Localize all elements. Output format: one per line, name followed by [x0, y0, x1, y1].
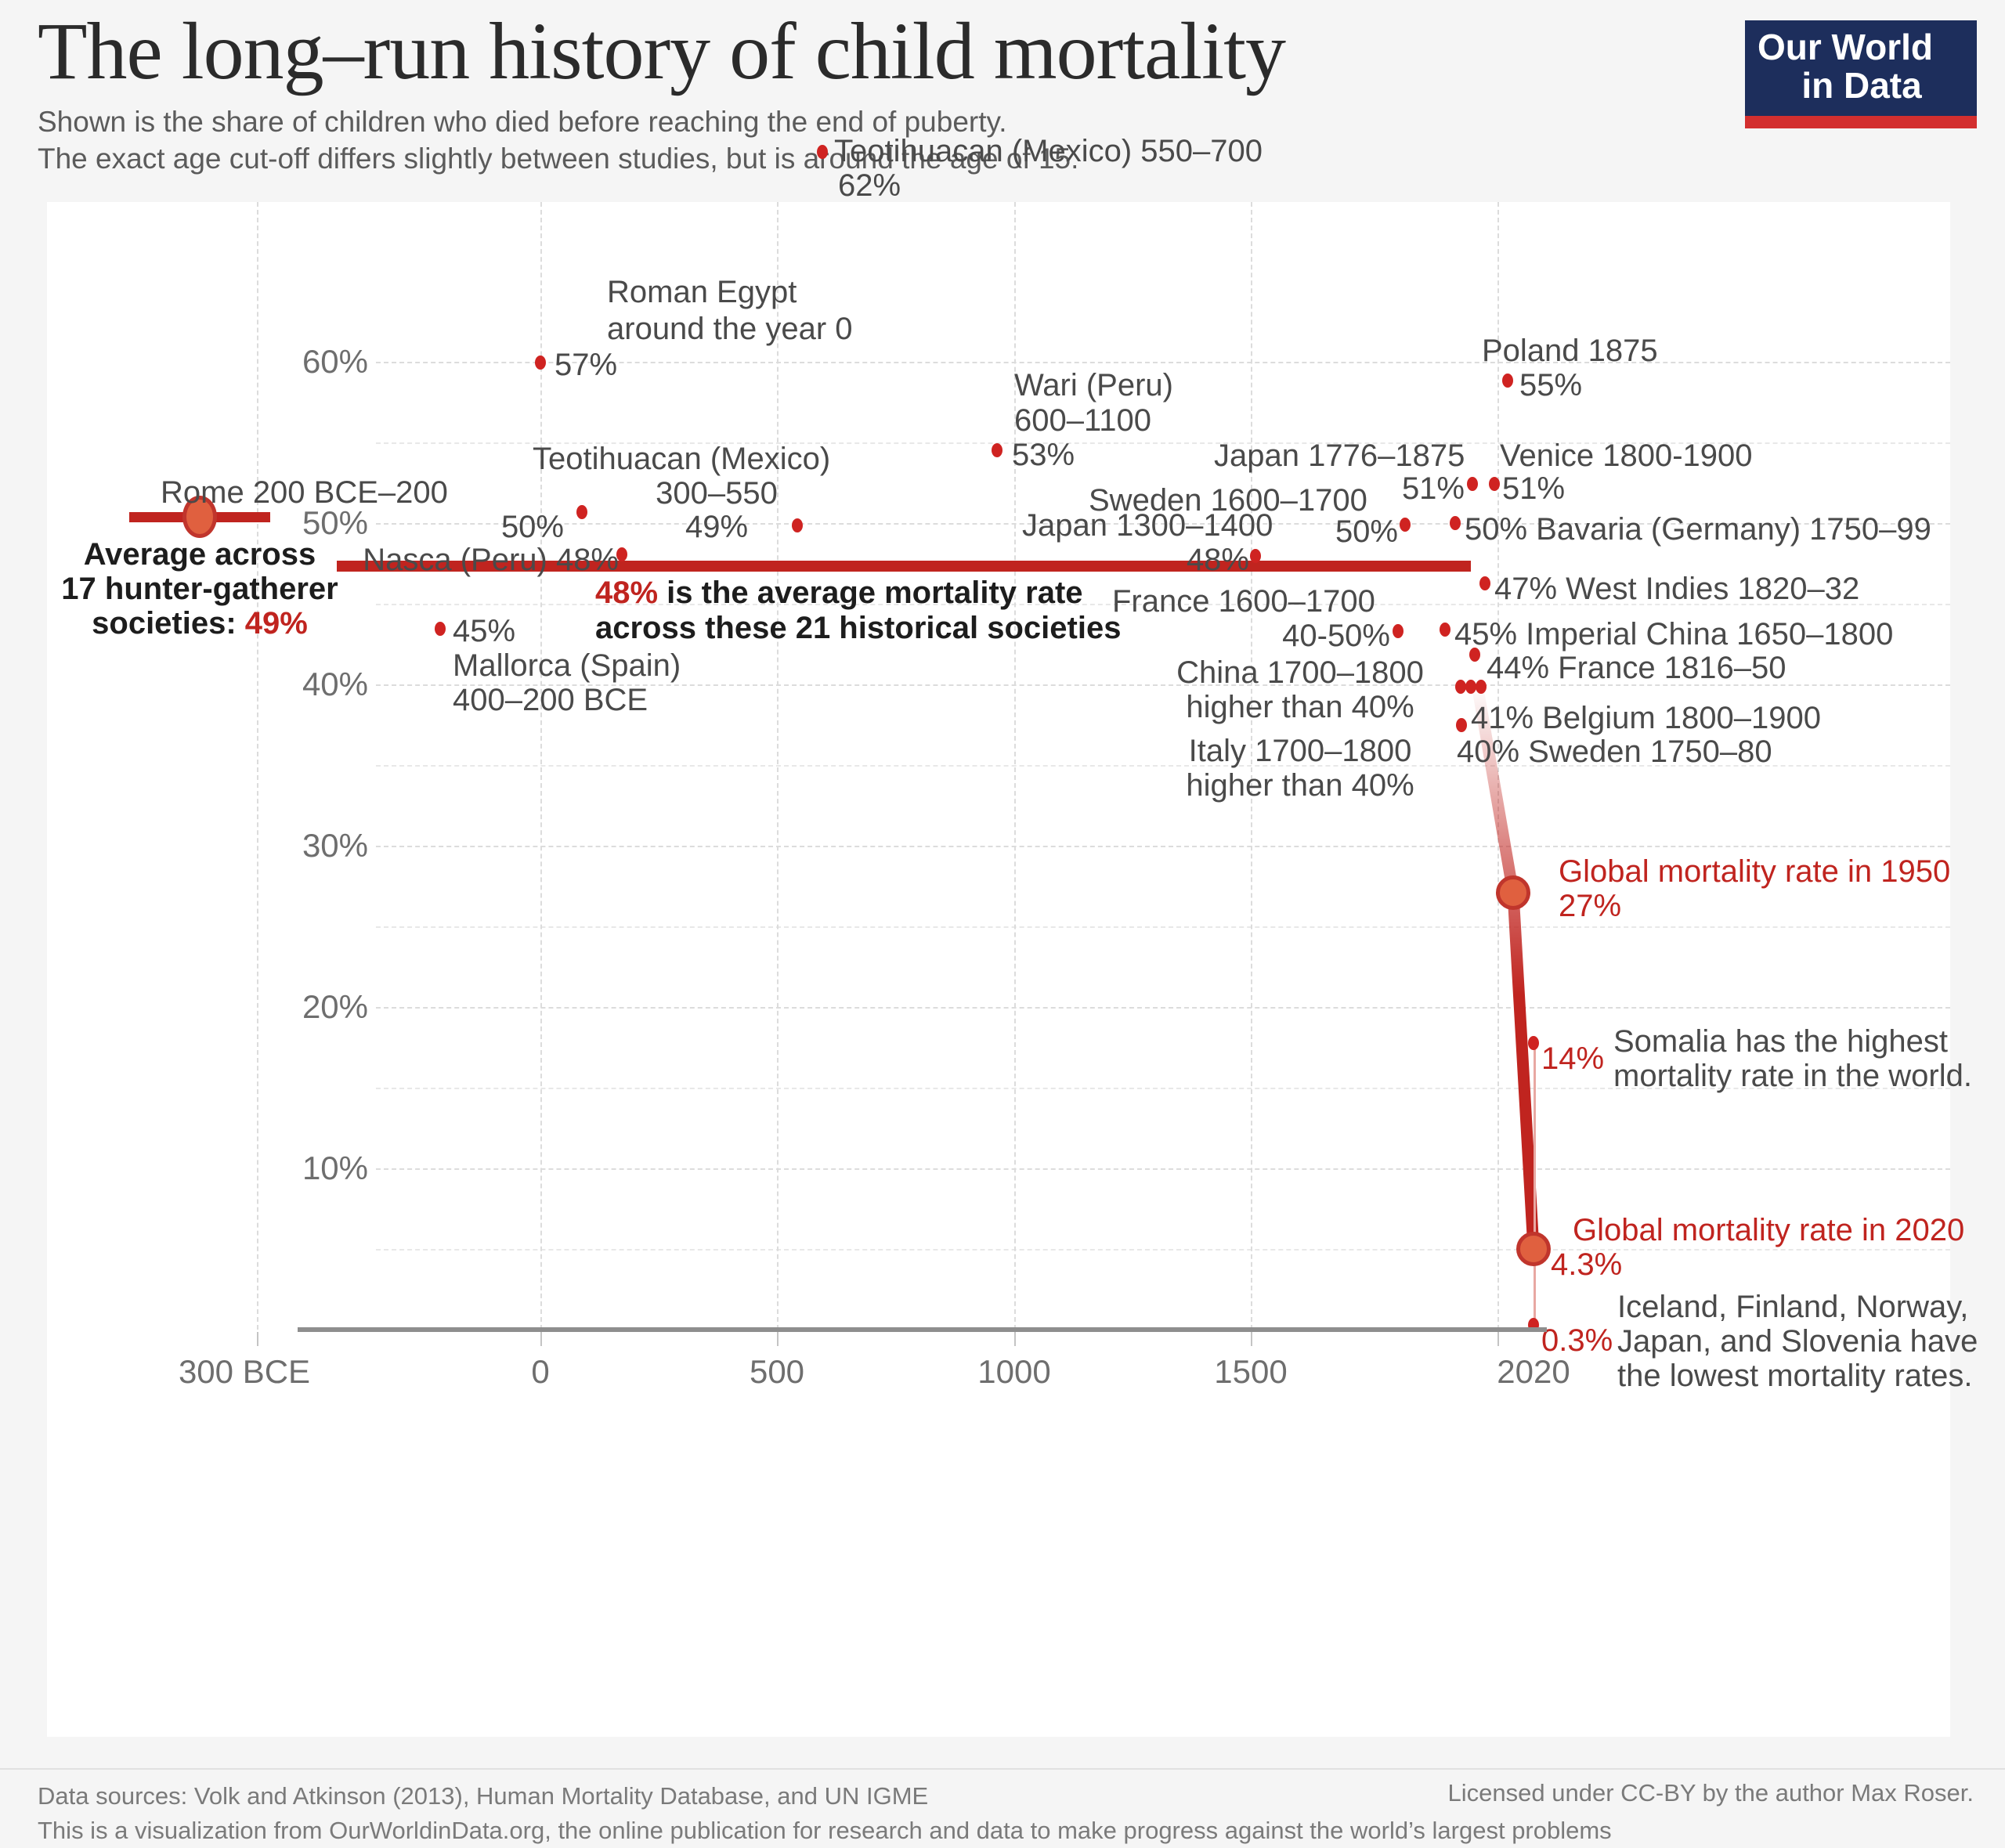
label-roman-egypt-line1: Roman Egypt — [607, 274, 797, 310]
x-tick-mark-500 — [777, 1332, 779, 1346]
dot-teotihuacan-550[interactable] — [817, 145, 828, 159]
label-teotihuacan-300-line2: 300–550 — [595, 475, 838, 511]
owid-logo[interactable]: Our World in Data — [1745, 20, 1977, 128]
average-caption-line1: 48% is the average mortality rate — [595, 575, 1083, 611]
logo-box: Our World in Data — [1745, 20, 1977, 116]
dot-teotihuacan-300[interactable] — [792, 518, 803, 532]
callout-lowest-line3: the lowest mortality rates. — [1617, 1358, 1973, 1394]
label-france-1600: France 1600–1700 — [1112, 583, 1375, 619]
label-imperial-china: 45% Imperial China 1650–1800 — [1454, 616, 1893, 652]
footer-license: Licensed under CC-BY by the author Max R… — [1448, 1779, 1974, 1807]
hunter-gatherer-caption-line2: 17 hunter-gatherer — [47, 571, 352, 607]
callout-global-2020-line1: Global mortality rate in 2020 — [1573, 1212, 1964, 1248]
label-sweden-1750: 40% Sweden 1750–80 — [1457, 734, 1772, 770]
callout-somalia-value: 14% — [1541, 1041, 1604, 1077]
label-west-indies: 47% West Indies 1820–32 — [1494, 571, 1859, 607]
dot-global-1950[interactable] — [1496, 875, 1530, 910]
dot-roman-egypt[interactable] — [535, 356, 546, 370]
global-trend-line — [47, 202, 1950, 1737]
x-tick-300bce: 300 BCE — [179, 1353, 310, 1391]
logo-red-bar — [1745, 116, 1977, 128]
page-title: The long–run history of child mortality — [38, 11, 1761, 92]
logo-line-1: Our World — [1758, 28, 1966, 67]
dot-venice-1800[interactable] — [1489, 477, 1500, 491]
x-axis-line — [298, 1327, 1547, 1332]
dot-bavaria-1750[interactable] — [1450, 516, 1461, 530]
x-tick-2020: 2020 — [1497, 1353, 1570, 1391]
x-tick-mark-0 — [540, 1332, 542, 1346]
callout-global-2020-line2: 4.3% — [1551, 1247, 1622, 1283]
label-teotihuacan-300-value: 49% — [666, 509, 768, 545]
dot-somalia-14[interactable] — [1528, 1036, 1539, 1050]
label-mallorca-line1: Mallorca (Spain) — [453, 648, 681, 684]
dot-italy-1700[interactable] — [1465, 680, 1476, 694]
label-china-1700-line2: higher than 40% — [1143, 689, 1457, 725]
label-france-1600-value: 40-50% — [1214, 618, 1390, 654]
dot-wari-peru[interactable] — [992, 443, 1002, 457]
footer-sources: Data sources: Volk and Atkinson (2013), … — [38, 1779, 1612, 1814]
range-line-somalia — [1534, 1043, 1536, 1254]
label-roman-egypt-value: 57% — [555, 347, 617, 383]
label-teotihuacan-550: Teotihuacan (Mexico) 550–700 — [834, 133, 1263, 169]
logo-line-2: in Data — [1758, 67, 1966, 105]
label-belgium-1800: 41% Belgium 1800–1900 — [1471, 700, 1821, 736]
label-bavaria-1750: 50% Bavaria (Germany) 1750–99 — [1465, 511, 1931, 547]
label-japan-1776-value: 51% — [1363, 471, 1465, 507]
label-venice-1800: Venice 1800-1900 — [1500, 438, 1753, 474]
footer-divider — [0, 1768, 2005, 1770]
label-teotihuacan-550-value: 62% — [838, 168, 901, 204]
label-wari-line1: Wari (Peru) — [1014, 367, 1173, 403]
footer-note: This is a visualization from OurWorldinD… — [38, 1814, 1612, 1848]
x-tick-mark-2020 — [1497, 1332, 1499, 1346]
x-tick-0: 0 — [531, 1353, 549, 1391]
dot-sweden-1600[interactable] — [1400, 518, 1411, 532]
label-japan-1776: Japan 1776–1875 — [1214, 438, 1465, 474]
label-roman-egypt-line2: around the year 0 — [607, 311, 853, 347]
chart-plot-area: 60% 50% 40% 30% 20% 10% — [47, 202, 1950, 1737]
callout-global-1950-line1: Global mortality rate in 1950 — [1559, 854, 1950, 890]
callout-lowest-line2: Japan, and Slovenia have — [1617, 1323, 1978, 1359]
x-tick-1500: 1500 — [1214, 1353, 1287, 1391]
hunter-gatherer-caption-line1: Average across — [47, 536, 352, 572]
label-wari-line2: 600–1100 — [1014, 402, 1151, 439]
label-japan-1300: Japan 1300–1400 — [1022, 507, 1273, 543]
callout-lowest-line1: Iceland, Finland, Norway, — [1617, 1289, 1968, 1325]
callout-somalia-line2: mortality rate in the world. — [1613, 1058, 1972, 1094]
dot-rome-200bce[interactable] — [576, 505, 587, 519]
label-france-1816: 44% France 1816–50 — [1487, 650, 1786, 686]
average-caption-value: 48% — [595, 576, 658, 610]
label-italy-1700-line1: Italy 1700–1800 — [1143, 733, 1457, 769]
callout-somalia-line1: Somalia has the highest — [1613, 1023, 1948, 1059]
label-rome-200bce: Rome 200 BCE–200 — [161, 475, 448, 511]
dot-china-1700[interactable] — [1455, 680, 1466, 694]
dot-france-1600[interactable] — [1393, 624, 1403, 638]
average-caption-rest: is the average mortality rate — [658, 576, 1082, 610]
dot-belgium-1800[interactable] — [1456, 718, 1467, 732]
hg-prefix: societies: — [92, 606, 245, 641]
label-poland-1875: Poland 1875 — [1482, 333, 1658, 369]
dot-poland-1875[interactable] — [1502, 374, 1513, 388]
hunter-gatherer-caption-line3: societies: 49% — [47, 605, 352, 641]
x-tick-1000: 1000 — [977, 1353, 1050, 1391]
average-caption-line2: across these 21 historical societies — [595, 610, 1121, 646]
dot-sweden-1750[interactable] — [1476, 680, 1487, 694]
hg-value: 49% — [245, 606, 308, 641]
label-venice-value: 51% — [1502, 471, 1565, 507]
label-poland-value: 55% — [1519, 367, 1582, 403]
x-tick-mark-1500 — [1251, 1332, 1252, 1346]
dot-japan-1776[interactable] — [1467, 477, 1478, 491]
dot-west-indies[interactable] — [1479, 576, 1490, 590]
dot-global-2020[interactable] — [1516, 1232, 1551, 1266]
x-tick-500: 500 — [750, 1353, 804, 1391]
x-tick-mark-300bce — [257, 1332, 258, 1346]
label-china-1700-line1: China 1700–1800 — [1143, 655, 1457, 691]
label-italy-1700-line2: higher than 40% — [1143, 767, 1457, 803]
dot-imperial-china[interactable] — [1440, 623, 1450, 637]
dot-mallorca-spain[interactable] — [435, 622, 446, 636]
label-rome-value: 50% — [423, 509, 564, 545]
label-mallorca-line2: 400–200 BCE — [453, 682, 648, 718]
label-wari-value: 53% — [1012, 437, 1075, 473]
callout-global-1950-line2: 27% — [1559, 888, 1621, 924]
x-tick-mark-1000 — [1014, 1332, 1016, 1346]
label-teotihuacan-300-line1: Teotihuacan (Mexico) — [533, 441, 830, 477]
label-mallorca-value: 45% — [453, 613, 515, 649]
dot-japan-1300[interactable] — [1250, 549, 1261, 563]
label-sweden-1600-value: 50% — [1284, 514, 1398, 550]
label-japan-1300-value: 48% — [1136, 542, 1249, 578]
footer-left: Data sources: Volk and Atkinson (2013), … — [38, 1779, 1612, 1848]
